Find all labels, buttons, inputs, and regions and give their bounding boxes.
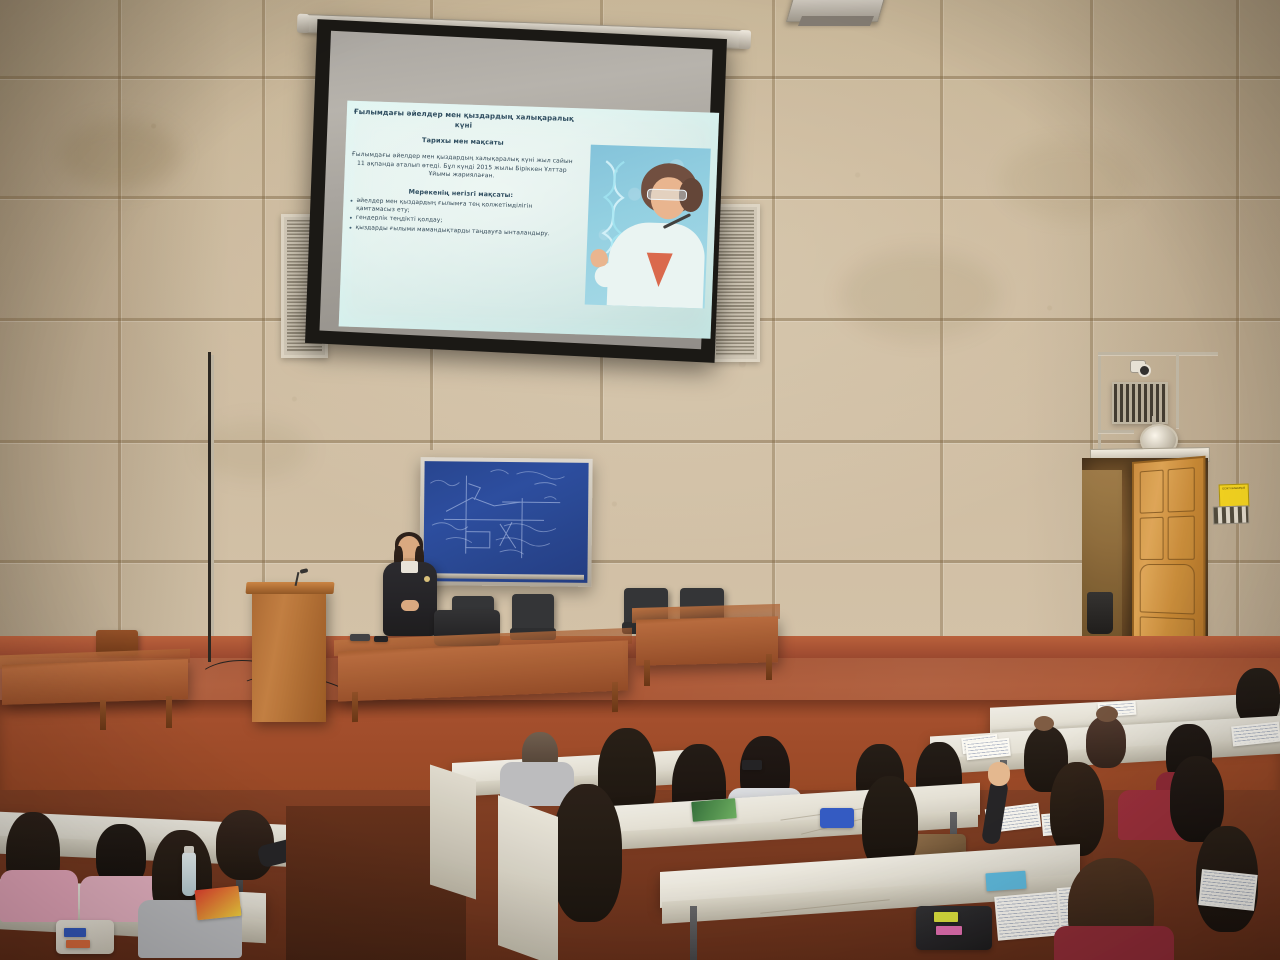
desk-side-panel — [430, 765, 476, 900]
student-head — [552, 784, 622, 922]
trash-bin — [1087, 592, 1113, 634]
side-table-leg — [644, 660, 650, 686]
lab-coat-collar — [645, 253, 672, 288]
sticky-notes — [985, 871, 1026, 892]
wall-conduit — [1098, 352, 1218, 355]
left-table — [2, 659, 188, 705]
notebook — [994, 891, 1062, 940]
side-table-leg — [766, 654, 772, 680]
left-table-leg — [166, 696, 172, 728]
chalkboard-surface — [423, 461, 588, 583]
wall-conduit — [1176, 352, 1179, 428]
student-bun — [1034, 716, 1054, 731]
slide-body-text: Ғылымдағы әйелдер мен қыздардың халықара… — [350, 151, 573, 184]
pencil-case — [56, 920, 114, 954]
marker — [936, 926, 962, 935]
blue-chalkboard — [419, 457, 592, 587]
ventilation-grille — [1112, 382, 1168, 424]
woman-scientist-illustration — [585, 145, 711, 309]
slide-bullet-list: әйелдер мен қыздардың ғылымға тең қолжет… — [348, 196, 571, 239]
clicker[interactable] — [374, 636, 388, 642]
door-warning-sign: ЕСІКТІ ЖАБЫҢЫЗ — [1219, 483, 1250, 507]
student-body — [1054, 926, 1174, 960]
presenter-hands — [401, 600, 419, 611]
wall-conduit — [1098, 352, 1101, 452]
presenter-badge — [424, 576, 430, 582]
snack-pack — [195, 886, 242, 920]
light-switch-panel[interactable] — [1213, 505, 1250, 524]
desk-side-panel — [498, 795, 558, 960]
lectern — [252, 586, 326, 722]
table-leg — [352, 692, 358, 722]
lecture-hall-photo: Ғылымдағы әйелдер мен қыздардың халықара… — [0, 0, 1280, 960]
presenter-collar — [401, 561, 418, 573]
marker — [64, 928, 86, 937]
side-table — [636, 616, 778, 665]
water-bottle — [182, 852, 196, 896]
student-head — [1086, 716, 1126, 768]
smartphone[interactable] — [742, 760, 762, 770]
student-head — [1050, 762, 1104, 856]
table-leg — [612, 682, 618, 712]
slide-title: Ғылымдағы әйелдер мен қыздардың халықара… — [352, 107, 575, 133]
textbook — [691, 798, 737, 822]
bottle-cap — [184, 846, 194, 853]
safety-glasses-icon — [647, 189, 687, 201]
presentation-slide: Ғылымдағы әйелдер мен қыздардың халықара… — [339, 101, 719, 339]
student-bun — [1096, 706, 1118, 722]
camera-lens-icon — [1138, 364, 1151, 377]
presenter-speaker — [383, 562, 437, 636]
slide-subtitle: Тарихы мен мақсаты — [352, 134, 574, 149]
ceiling-speaker-base — [798, 16, 874, 26]
marker — [66, 940, 90, 948]
highlighter — [934, 912, 958, 922]
lectern-top — [245, 582, 334, 594]
slide-text-column: Ғылымдағы әйелдер мен қыздардың халықара… — [348, 107, 575, 241]
raised-hand-icon — [988, 762, 1010, 786]
wall-wire — [208, 352, 211, 662]
stage-chair-2 — [512, 594, 554, 630]
screen-surface: Ғылымдағы әйелдер мен қыздардың халықара… — [319, 31, 712, 349]
notebook — [1198, 869, 1257, 911]
chalk-drawing — [423, 461, 580, 575]
projector-screen[interactable]: Ғылымдағы әйелдер мен қыздардың халықара… — [305, 19, 727, 363]
wall-conduit — [1098, 430, 1134, 433]
left-table-leg — [100, 700, 106, 730]
remote-control[interactable] — [350, 634, 370, 641]
smartphone[interactable] — [820, 808, 854, 828]
desk-leg — [690, 906, 697, 960]
student-body — [0, 870, 78, 922]
